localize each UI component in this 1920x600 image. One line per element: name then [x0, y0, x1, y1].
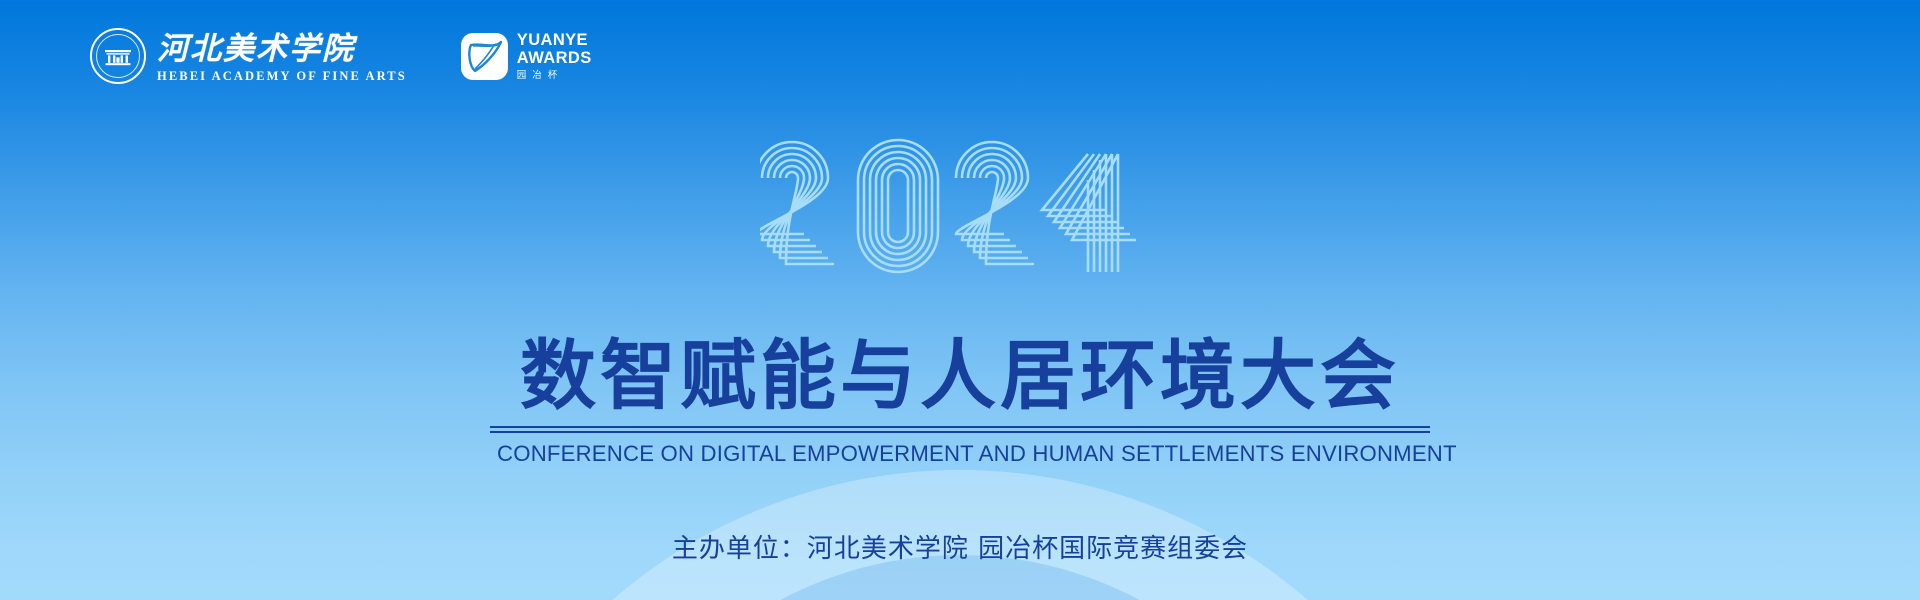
conference-title-cn: 数智赋能与人居环境大会: [490, 338, 1430, 414]
divider-rule-bottom: [490, 431, 1430, 433]
year-2024-graphic: [760, 138, 1160, 278]
academy-gate-glyph: [105, 48, 131, 66]
logo-bar: 河北美术学院 HEBEI ACADEMY OF FINE ARTS YUANYE…: [90, 28, 592, 84]
yuanye-leaf-glyph: [461, 33, 508, 80]
title-block: 数智赋能与人居环境大会 CONFERENCE ON DIGITAL EMPOWE…: [490, 338, 1430, 467]
organizer-line: 主办单位：河北美术学院 园冶杯国际竞赛组委会: [0, 528, 1920, 565]
title-divider-rules: [490, 426, 1430, 433]
yuanye-line1: YUANYE: [517, 32, 592, 49]
divider-rule-top: [490, 426, 1430, 428]
hebei-academy-en-name: HEBEI ACADEMY OF FINE ARTS: [157, 69, 407, 84]
yuanye-awards-logo: YUANYE AWARDS 园冶杯: [461, 32, 592, 81]
yuanye-leaf-mark-icon: [461, 33, 508, 80]
hebei-academy-logo: 河北美术学院 HEBEI ACADEMY OF FINE ARTS: [90, 28, 407, 84]
academy-seal-icon: [90, 28, 146, 84]
yuanye-line2: AWARDS: [517, 50, 592, 67]
conference-title-en: CONFERENCE ON DIGITAL EMPOWERMENT AND HU…: [497, 441, 1423, 467]
hebei-academy-cn-name: 河北美术学院: [157, 33, 407, 64]
yuanye-cn-name: 园冶杯: [517, 71, 592, 81]
year-2024-svg: [760, 138, 1160, 278]
conference-banner: 河北美术学院 HEBEI ACADEMY OF FINE ARTS YUANYE…: [0, 0, 1920, 600]
